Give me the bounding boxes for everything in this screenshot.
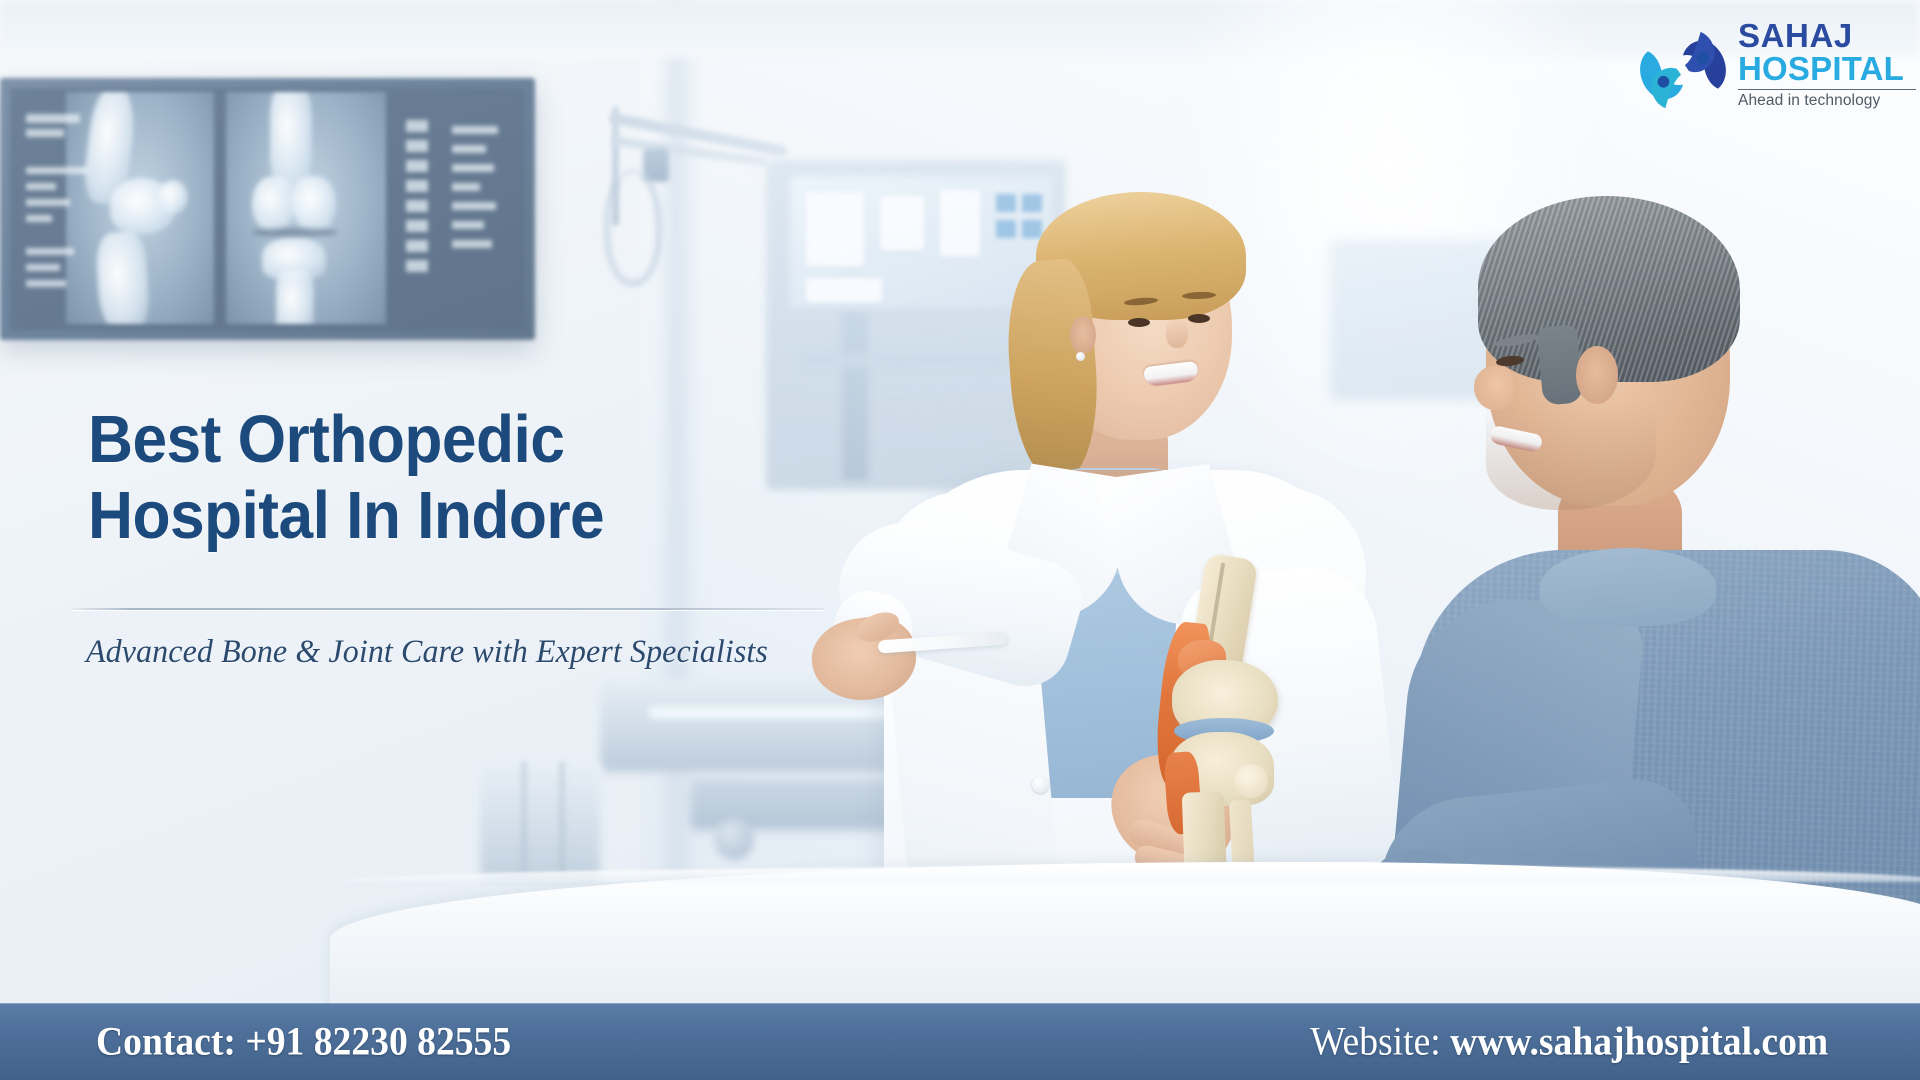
xray-tibia-lateral [94, 230, 151, 324]
website-label: Website: [1310, 1018, 1441, 1063]
patient-collar [1540, 548, 1716, 626]
xray-data-panel-mid [406, 120, 428, 272]
xray-data-panel-right [452, 126, 498, 248]
subheadline: Advanced Bone & Joint Care with Expert S… [86, 634, 920, 671]
doctor-eye-far [1188, 314, 1210, 323]
xray-tibia-shaft [276, 270, 314, 324]
logo-name-secondary: HOSPITAL [1738, 52, 1918, 86]
headline: Best Orthopedic Hospital In Indore [88, 402, 851, 553]
exam-table-wheel-left [714, 818, 754, 860]
contact-text[interactable]: Contact: +91 82230 82555 [96, 1017, 511, 1064]
logo-name-primary: SAHAJ [1738, 20, 1918, 52]
xray-condyle-medial [252, 176, 296, 232]
xray-joint-space [252, 228, 338, 237]
xray-view-ap-knee [226, 92, 386, 324]
logo-divider [1738, 89, 1916, 91]
iv-pole-loop [604, 168, 662, 286]
patient-figure [1390, 150, 1920, 940]
xray-data-panel-left [26, 114, 88, 287]
headline-line-1: Best Orthopedic [88, 402, 851, 478]
xray-view-lateral-knee [66, 92, 214, 324]
ceiling-band [0, 0, 1920, 58]
doctor-earring [1076, 352, 1085, 361]
knee-model-meniscus [1234, 764, 1268, 798]
headline-divider [72, 608, 824, 610]
monitor-tile-1 [806, 192, 864, 266]
doctor-ear [1070, 316, 1096, 354]
xray-condyle-lateral-ap [292, 176, 336, 232]
website-url[interactable]: www.sahajhospital.com [1450, 1018, 1828, 1063]
exam-stool [480, 760, 600, 878]
doctor-eye-near [1128, 318, 1150, 327]
patient-nose [1474, 366, 1514, 410]
stool-seam-1 [522, 762, 526, 874]
footer-bar: Contact: +91 82230 82555 Website: www.sa… [0, 1003, 1920, 1080]
doctor-nose [1166, 318, 1188, 348]
website-text[interactable]: Website: www.sahajhospital.com [1310, 1017, 1828, 1064]
doctor-coat-button [1032, 776, 1049, 793]
sahaj-butterfly-logo-icon [1634, 26, 1732, 114]
logo-tagline: Ahead in technology [1738, 92, 1918, 110]
patient-ear [1576, 346, 1618, 404]
logo-wordmark: SAHAJ HOSPITAL Ahead in technology [1738, 20, 1918, 110]
xray-patella [158, 180, 188, 214]
headline-line-2: Hospital In Indore [88, 478, 851, 554]
orthopedic-hospital-banner: Best Orthopedic Hospital In Indore Advan… [0, 0, 1920, 1080]
sahaj-hospital-logo[interactable]: SAHAJ HOSPITAL Ahead in technology [1634, 20, 1916, 122]
stool-seam-2 [560, 762, 564, 874]
xray-lightbox [0, 78, 535, 340]
xray-femur-ap [270, 92, 312, 188]
